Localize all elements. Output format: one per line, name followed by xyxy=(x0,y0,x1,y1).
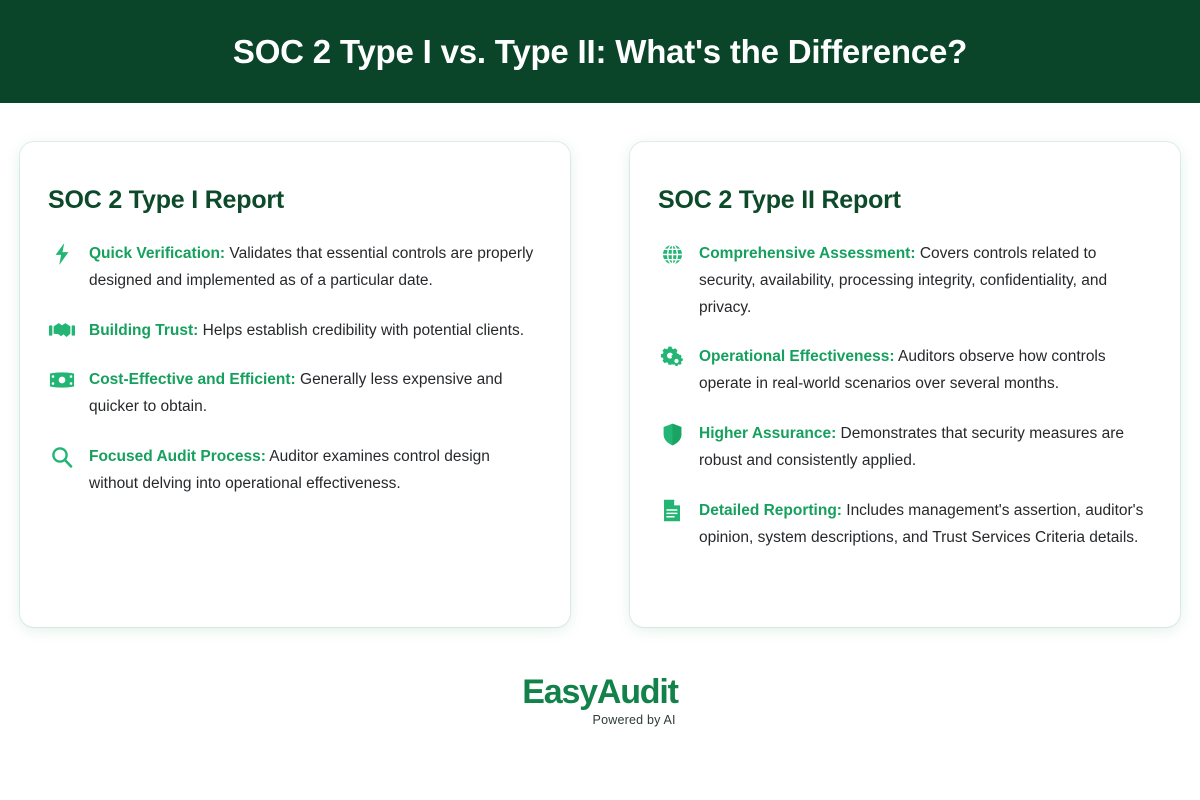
list-item-text: Building Trust: Helps establish credibil… xyxy=(89,318,542,345)
list-item: Higher Assurance: Demonstrates that secu… xyxy=(658,421,1152,475)
list-item-label: Quick Verification: xyxy=(89,245,225,262)
card-title: SOC 2 Type II Report xyxy=(658,186,1152,215)
list-item-label: Higher Assurance: xyxy=(699,425,836,442)
list-item: Operational Effectiveness: Auditors obse… xyxy=(658,344,1152,398)
list-item-body: Helps establish credibility with potenti… xyxy=(198,322,524,339)
list-item-label: Focused Audit Process: xyxy=(89,448,266,465)
logo-tagline: Powered by AI xyxy=(593,713,676,727)
list-item: Cost-Effective and Efficient: Generally … xyxy=(48,367,542,421)
infographic-root: SOC 2 Type I vs. Type II: What's the Dif… xyxy=(0,0,1200,800)
document-lines-icon xyxy=(658,499,686,523)
page-title: SOC 2 Type I vs. Type II: What's the Dif… xyxy=(233,33,967,71)
cards-container: SOC 2 Type I Report Quick Verification: … xyxy=(0,103,1200,627)
header-bar: SOC 2 Type I vs. Type II: What's the Dif… xyxy=(0,0,1200,103)
list-item: Quick Verification: Validates that essen… xyxy=(48,241,542,295)
lightning-bolt-icon xyxy=(48,242,76,266)
list-item-text: Cost-Effective and Efficient: Generally … xyxy=(89,367,542,421)
card-soc2-type-2: SOC 2 Type II Report xyxy=(630,142,1180,627)
magnifying-glass-icon xyxy=(48,445,76,469)
gears-icon xyxy=(658,345,686,369)
list-item: Building Trust: Helps establish credibil… xyxy=(48,318,542,345)
feature-list: Quick Verification: Validates that essen… xyxy=(48,241,542,498)
shield-icon xyxy=(658,422,686,446)
list-item-label: Building Trust: xyxy=(89,322,198,339)
list-item-text: Detailed Reporting: Includes management'… xyxy=(699,498,1152,552)
globe-icon xyxy=(658,242,686,266)
list-item-label: Cost-Effective and Efficient: xyxy=(89,371,296,388)
card-title: SOC 2 Type I Report xyxy=(48,186,542,215)
list-item: Focused Audit Process: Auditor examines … xyxy=(48,444,542,498)
list-item-label: Comprehensive Assessment: xyxy=(699,245,916,262)
list-item: Comprehensive Assessment: Covers control… xyxy=(658,241,1152,321)
list-item-label: Operational Effectiveness: xyxy=(699,348,895,365)
banknote-icon xyxy=(48,368,76,392)
feature-list: Comprehensive Assessment: Covers control… xyxy=(658,241,1152,551)
brand-logo: EasyAudit Powered by AI xyxy=(522,675,677,727)
list-item-label: Detailed Reporting: xyxy=(699,502,842,519)
list-item-text: Comprehensive Assessment: Covers control… xyxy=(699,241,1152,321)
list-item: Detailed Reporting: Includes management'… xyxy=(658,498,1152,552)
list-item-text: Higher Assurance: Demonstrates that secu… xyxy=(699,421,1152,475)
list-item-text: Operational Effectiveness: Auditors obse… xyxy=(699,344,1152,398)
logo-wordmark: EasyAudit xyxy=(522,675,677,709)
footer: EasyAudit Powered by AI xyxy=(0,627,1200,800)
handshake-icon xyxy=(48,319,76,343)
list-item-text: Quick Verification: Validates that essen… xyxy=(89,241,542,295)
card-soc2-type-1: SOC 2 Type I Report Quick Verification: … xyxy=(20,142,570,627)
list-item-text: Focused Audit Process: Auditor examines … xyxy=(89,444,542,498)
